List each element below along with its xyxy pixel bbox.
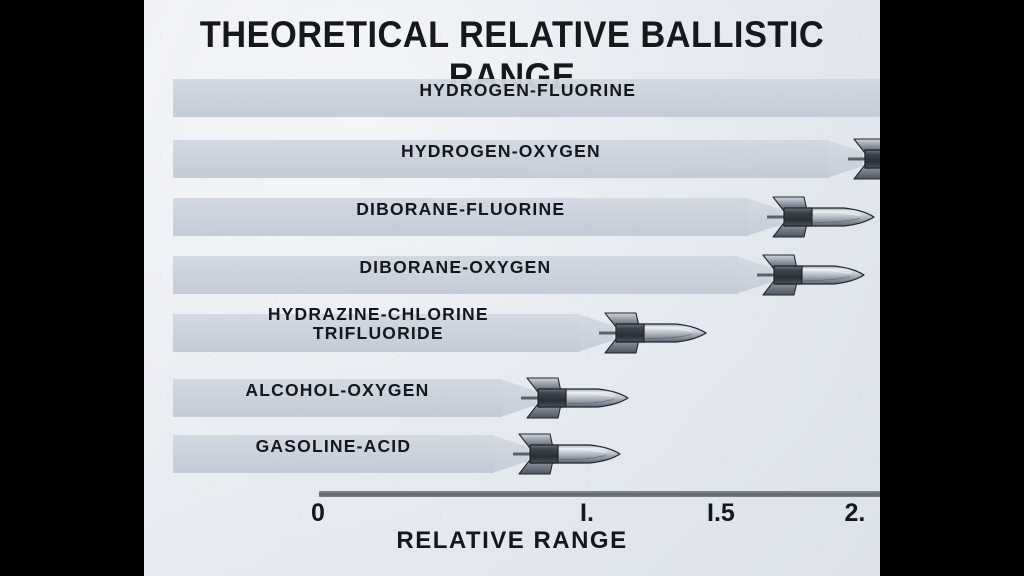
bar-label: ALCOHOL-OXYGEN (173, 371, 502, 409)
bar-label: HYDROGEN-FLUORINE (173, 71, 880, 109)
bar-label: DIBORANE-OXYGEN (173, 248, 738, 286)
letterbox-left (0, 0, 144, 576)
chart-card: THEORETICAL RELATIVE BALLISTIC RANGE HYD… (144, 0, 880, 576)
rocket-icon (502, 431, 622, 477)
rocket-icon (837, 136, 880, 182)
letterbox-right (880, 0, 1024, 576)
bar-label: HYDRAZINE-CHLORINETRIFLUORIDE (175, 305, 582, 343)
rocket-icon (756, 194, 876, 240)
bar-label: GASOLINE-ACID (173, 427, 494, 465)
bar-chart-plot: HYDROGEN-FLUORINE (144, 0, 880, 576)
x-axis-title: RELATIVE RANGE (144, 527, 880, 555)
screenshot-stage: THEORETICAL RELATIVE BALLISTIC RANGE HYD… (0, 0, 1024, 576)
x-axis-tick-label: 2. (845, 499, 866, 528)
bar-label: DIBORANE-FLUORINE (173, 190, 748, 228)
x-axis-line (319, 491, 880, 497)
rocket-icon (588, 310, 708, 356)
rocket-icon (746, 252, 866, 298)
rocket-icon (510, 375, 630, 421)
x-axis-tick-label: 0 (311, 499, 325, 528)
x-axis-tick-label: I.5 (707, 499, 735, 528)
x-axis-tick-label: I. (580, 499, 594, 528)
bar-label: HYDROGEN-OXYGEN (173, 132, 829, 170)
